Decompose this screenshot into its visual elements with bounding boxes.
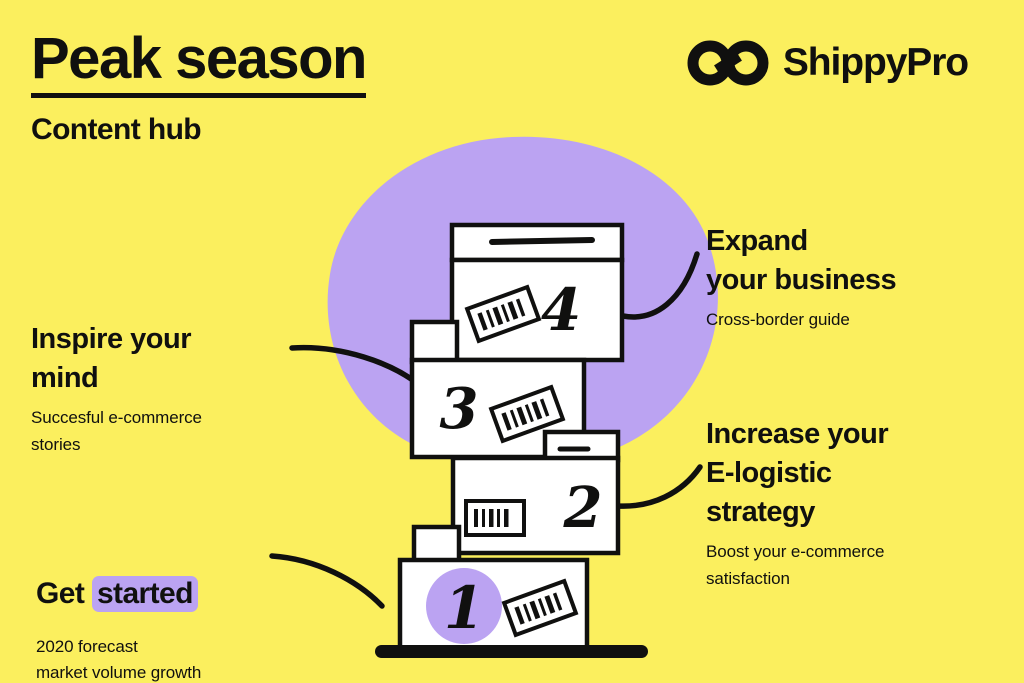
box-2-barcode-label bbox=[466, 501, 524, 535]
page-subtitle: Content hub bbox=[31, 113, 201, 147]
box-3-side-flap bbox=[412, 322, 457, 362]
callout-increase-subtitle: Boost your e-commerce satisfaction bbox=[706, 538, 1006, 593]
page-title: Peak season bbox=[31, 29, 366, 98]
box-2-number: 2 bbox=[563, 475, 603, 541]
callout-get-started-title-highlight: started bbox=[92, 576, 198, 612]
callout-increase-title: Increase your E-logistic strategy bbox=[706, 415, 1006, 532]
box-1-side-flap bbox=[414, 527, 459, 563]
shippypro-infinity-icon bbox=[687, 40, 769, 86]
callout-expand[interactable]: Expand your business Cross-border guide bbox=[706, 222, 1006, 333]
connector-increase bbox=[617, 467, 700, 506]
poster-canvas: 4 3 bbox=[0, 0, 1024, 683]
box-4-lid-seam bbox=[492, 240, 592, 242]
parcel-box-4: 4 bbox=[452, 225, 622, 360]
callout-increase[interactable]: Increase your E-logistic strategy Boost … bbox=[706, 415, 1006, 593]
box-3-number: 3 bbox=[440, 376, 479, 442]
box-4-number: 4 bbox=[541, 276, 581, 344]
box-1-number: 1 bbox=[444, 574, 484, 642]
callout-get-started-title-plain: Get bbox=[36, 577, 84, 610]
shippypro-logo[interactable]: ShippyPro bbox=[687, 40, 968, 86]
callout-expand-title: Expand your business bbox=[706, 222, 1006, 300]
callout-inspire[interactable]: Inspire your mind Succesful e-commerce s… bbox=[31, 320, 311, 459]
callout-inspire-subtitle: Succesful e-commerce stories bbox=[31, 404, 311, 459]
callout-inspire-title: Inspire your mind bbox=[31, 320, 311, 398]
callout-get-started-title: Get started bbox=[36, 534, 326, 614]
callout-get-started[interactable]: Get started 2020 forecast market volume … bbox=[36, 534, 326, 683]
callout-get-started-subtitle: 2020 forecast market volume growth bbox=[36, 634, 326, 683]
ground-bar bbox=[375, 645, 648, 658]
logo-wordmark: ShippyPro bbox=[783, 41, 968, 85]
callout-expand-subtitle: Cross-border guide bbox=[706, 306, 1006, 334]
